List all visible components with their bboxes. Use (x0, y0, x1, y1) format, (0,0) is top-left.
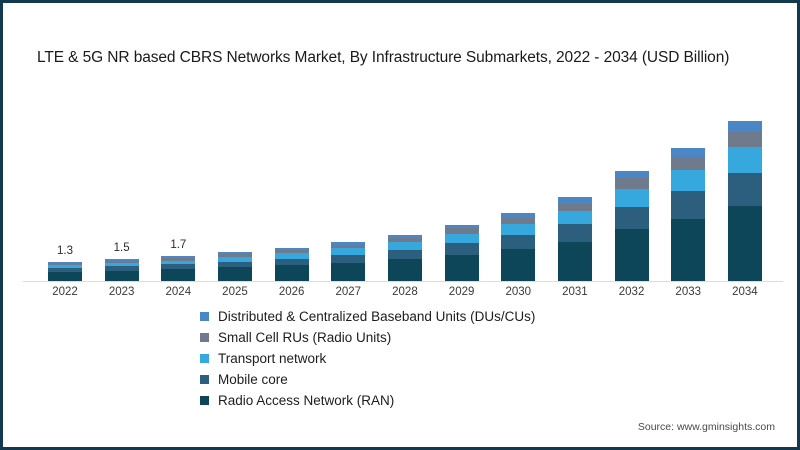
bar-segment[interactable] (331, 263, 365, 281)
legend-swatch-icon (200, 333, 209, 342)
legend-item[interactable]: Small Cell RUs (Radio Units) (200, 330, 535, 345)
bar-segment[interactable] (728, 173, 762, 206)
bar-group[interactable] (207, 99, 263, 281)
bar-series-container: 1.31.51.7 (37, 99, 773, 281)
x-axis-labels: 2022202320242025202620272028202920302031… (37, 286, 773, 298)
bar-segment[interactable] (161, 269, 195, 281)
x-axis-tick-label: 2022 (37, 286, 93, 298)
legend-item-label: Mobile core (218, 373, 288, 387)
bar-segment[interactable] (728, 131, 762, 147)
bar-stack[interactable] (728, 121, 762, 281)
bar-stack[interactable] (218, 252, 252, 281)
chart-title: LTE & 5G NR based CBRS Networks Market, … (37, 49, 729, 67)
bar-segment[interactable] (615, 189, 649, 207)
x-axis-tick-label: 2029 (434, 286, 490, 298)
bar-stack[interactable] (388, 235, 422, 281)
bar-segment[interactable] (275, 265, 309, 281)
bar-segment[interactable] (728, 147, 762, 173)
legend-swatch-icon (200, 354, 209, 363)
legend-swatch-icon (200, 375, 209, 384)
bar-segment[interactable] (615, 171, 649, 178)
bar-group[interactable] (490, 99, 546, 281)
bar-stack[interactable] (275, 248, 309, 281)
bar-segment[interactable] (671, 148, 705, 157)
bar-segment[interactable] (275, 259, 309, 266)
x-axis-tick-label: 2030 (490, 286, 546, 298)
bar-group[interactable] (660, 99, 716, 281)
x-axis-tick-label: 2026 (264, 286, 320, 298)
x-axis-line (23, 281, 783, 282)
bar-segment[interactable] (671, 191, 705, 218)
legend-item-label: Radio Access Network (RAN) (218, 394, 394, 408)
bar-stack[interactable] (501, 213, 535, 281)
legend-item-label: Small Cell RUs (Radio Units) (218, 331, 391, 345)
x-axis-tick-label: 2027 (320, 286, 376, 298)
bar-group[interactable] (604, 99, 660, 281)
bar-segment[interactable] (671, 219, 705, 281)
bar-segment[interactable] (615, 229, 649, 281)
bar-value-label: 1.5 (114, 243, 130, 256)
bar-segment[interactable] (501, 249, 535, 281)
bar-segment[interactable] (728, 206, 762, 281)
bar-segment[interactable] (671, 157, 705, 170)
bar-segment[interactable] (671, 170, 705, 191)
bar-group[interactable] (377, 99, 433, 281)
bar-stack[interactable] (331, 242, 365, 281)
plot-area: 1.31.51.7 (37, 99, 773, 281)
bar-segment[interactable] (445, 234, 479, 243)
bar-stack[interactable] (105, 259, 139, 281)
x-axis-tick-label: 2024 (150, 286, 206, 298)
bar-segment[interactable] (388, 259, 422, 281)
bar-segment[interactable] (501, 224, 535, 235)
bar-stack[interactable] (48, 262, 82, 281)
chart-card: LTE & 5G NR based CBRS Networks Market, … (0, 0, 800, 450)
bar-segment[interactable] (445, 255, 479, 281)
bar-group[interactable]: 1.3 (37, 99, 93, 281)
legend-item[interactable]: Distributed & Centralized Baseband Units… (200, 309, 535, 324)
bar-segment[interactable] (615, 207, 649, 230)
x-axis-tick-label: 2033 (660, 286, 716, 298)
bar-group[interactable] (320, 99, 376, 281)
legend-item[interactable]: Radio Access Network (RAN) (200, 393, 535, 408)
bar-segment[interactable] (388, 250, 422, 260)
x-axis-tick-label: 2028 (377, 286, 433, 298)
legend-item-label: Transport network (218, 352, 326, 366)
x-axis-tick-label: 2025 (207, 286, 263, 298)
bar-stack[interactable] (161, 256, 195, 281)
bar-stack[interactable] (445, 225, 479, 281)
bar-segment[interactable] (558, 211, 592, 224)
bar-segment[interactable] (445, 243, 479, 255)
x-axis-tick-label: 2031 (547, 286, 603, 298)
bar-group[interactable] (717, 99, 773, 281)
source-caption: Source: www.gminsights.com (638, 421, 775, 433)
bar-value-label: 1.3 (57, 246, 73, 259)
bar-group[interactable]: 1.5 (94, 99, 150, 281)
bar-stack[interactable] (615, 171, 649, 281)
bar-stack[interactable] (671, 148, 705, 281)
bar-segment[interactable] (558, 224, 592, 241)
bar-group[interactable]: 1.7 (150, 99, 206, 281)
bar-segment[interactable] (388, 242, 422, 249)
bar-segment[interactable] (615, 178, 649, 189)
legend-item[interactable]: Mobile core (200, 372, 535, 387)
bar-group[interactable] (547, 99, 603, 281)
legend-swatch-icon (200, 312, 209, 321)
legend-swatch-icon (200, 396, 209, 405)
bar-segment[interactable] (728, 121, 762, 131)
bar-segment[interactable] (105, 271, 139, 281)
legend-item-label: Distributed & Centralized Baseband Units… (218, 310, 535, 324)
chart-legend: Distributed & Centralized Baseband Units… (200, 309, 535, 408)
bar-segment[interactable] (501, 235, 535, 249)
bar-segment[interactable] (558, 203, 592, 211)
legend-item[interactable]: Transport network (200, 351, 535, 366)
x-axis-tick-label: 2032 (604, 286, 660, 298)
bar-segment[interactable] (48, 272, 82, 281)
x-axis-tick-label: 2023 (94, 286, 150, 298)
bar-segment[interactable] (218, 267, 252, 281)
bar-value-label: 1.7 (170, 240, 186, 253)
bar-group[interactable] (264, 99, 320, 281)
bar-segment[interactable] (501, 218, 535, 225)
x-axis-tick-label: 2034 (717, 286, 773, 298)
bar-segment[interactable] (331, 255, 365, 263)
bar-stack[interactable] (558, 197, 592, 281)
bar-segment[interactable] (558, 242, 592, 281)
bar-group[interactable] (434, 99, 490, 281)
